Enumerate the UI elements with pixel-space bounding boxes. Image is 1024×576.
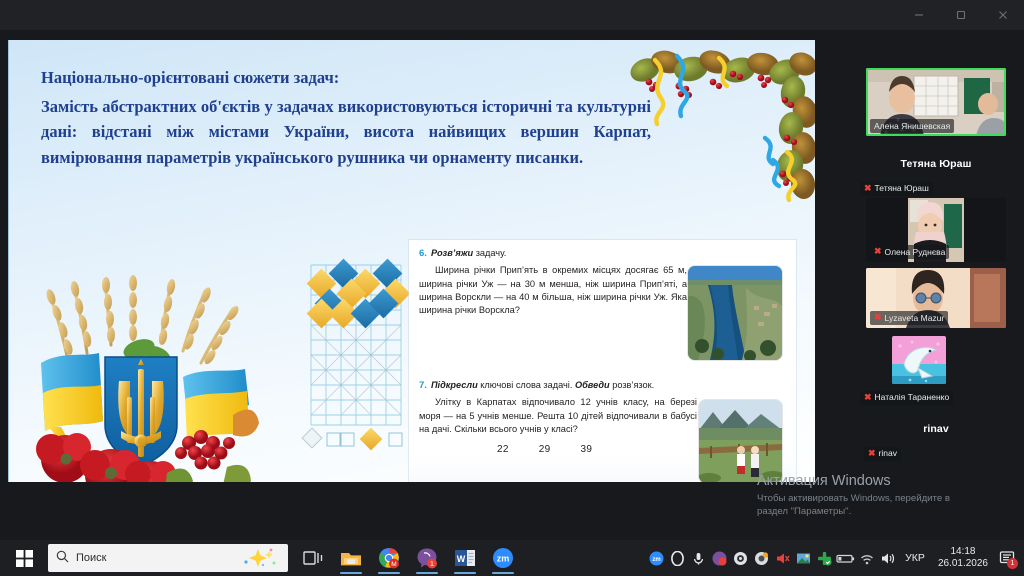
browser-tray-icon[interactable] — [730, 540, 751, 576]
chrome-icon[interactable]: M — [370, 540, 408, 576]
participant-name-badge: ✖ Наталія Тараненко — [860, 391, 953, 405]
participant-name: Алена Янишевская — [874, 121, 950, 131]
river-aerial-photo — [688, 266, 782, 360]
taskbar-pinned-apps[interactable]: M 1 W — [294, 540, 522, 576]
task-7-instruction-rest2: розв’язок. — [612, 380, 654, 390]
ukraine-coat-of-arms-emblem-icon — [21, 245, 271, 482]
task-6: 6. Розв’яжи задачу. Ширина річки Прип’ят… — [409, 248, 687, 317]
task-view-icon[interactable] — [294, 540, 332, 576]
svg-text:1: 1 — [430, 561, 434, 568]
zoom-icon[interactable]: zm — [484, 540, 522, 576]
participant-name: Lyzaveta Mazur — [885, 313, 945, 323]
running-indicator — [340, 572, 362, 575]
muted-microphone-icon: ✖ — [864, 183, 872, 194]
task-7-number: 7. — [419, 380, 427, 392]
participant-tile-tetyana[interactable]: Тетяна Юраш ✖ Тетяна Юраш — [848, 158, 1024, 196]
participant-tile-olena[interactable]: ✖ Олена Руднєва — [866, 198, 1006, 262]
task-6-heading: 6. Розв’яжи задачу. — [419, 248, 687, 260]
notification-icon[interactable]: 1 — [994, 540, 1020, 576]
carpathian-mountains-children-photo — [699, 400, 782, 482]
shield-tray-icon[interactable] — [751, 540, 772, 576]
system-tray[interactable]: zm — [646, 540, 1024, 576]
spotlight-name-tetyana: Тетяна Юраш — [848, 158, 1024, 170]
task-6-body: Ширина річки Прип’ять в окремих місцях д… — [419, 264, 687, 317]
volume-mute-icon[interactable] — [772, 540, 793, 576]
rushnyk-pysanka-grid-icon — [297, 255, 427, 455]
viburnum-ribbon-corner-icon — [615, 42, 815, 202]
task-7-body: Улітку в Карпатах відпочивало 12 учнів к… — [419, 396, 697, 436]
running-indicator — [492, 572, 514, 575]
textbook-task-card: 6. Розв’яжи задачу. Ширина річки Прип’ят… — [409, 240, 796, 482]
opera-tray-icon[interactable] — [667, 540, 688, 576]
running-indicator — [378, 572, 400, 575]
answer-option[interactable]: 39 — [580, 444, 592, 455]
slide-text-block: Національно-орієнтовані сюжети задач: За… — [41, 65, 651, 171]
svg-text:zm: zm — [497, 554, 510, 564]
security-check-icon[interactable] — [814, 540, 835, 576]
muted-microphone-icon: ✖ — [864, 392, 872, 403]
slide-paragraph: Замість абстрактних об'єктів у задачах в… — [41, 94, 651, 171]
viber-tray-icon[interactable] — [709, 540, 730, 576]
speaker-icon[interactable] — [877, 540, 898, 576]
search-placeholder: Поиск — [76, 552, 106, 564]
running-indicator — [454, 572, 476, 575]
task-7: 7. Підкресли ключові слова задачі. Обвед… — [409, 380, 697, 455]
wifi-icon[interactable] — [856, 540, 877, 576]
muted-microphone-icon: ✖ — [874, 312, 882, 323]
search-input[interactable]: Поиск — [48, 544, 288, 572]
svg-text:zm: zm — [652, 557, 660, 563]
participant-tile-rinav[interactable]: rinav ✖ rinav — [848, 423, 1024, 461]
copilot-sparkle-icon[interactable] — [238, 547, 280, 569]
windows-taskbar[interactable]: Поиск — [0, 540, 1024, 576]
participant-name: Тетяна Юраш — [875, 183, 929, 193]
viber-icon[interactable]: 1 — [408, 540, 446, 576]
picture-tray-icon[interactable] — [793, 540, 814, 576]
participant-rail[interactable]: Алена Янишевская Тетяна Юраш ✖ Тетяна Юр… — [848, 30, 1024, 540]
maximize-button[interactable] — [940, 0, 982, 30]
answer-option[interactable]: 22 — [497, 444, 509, 455]
answer-option[interactable]: 29 — [539, 444, 551, 455]
participant-tile-nataliya[interactable]: ✖ Наталія Тараненко — [848, 336, 1024, 405]
participant-name: rinav — [879, 448, 897, 458]
zoom-tray-icon[interactable]: zm — [646, 540, 667, 576]
muted-microphone-icon: ✖ — [868, 448, 876, 459]
battery-icon[interactable] — [835, 540, 856, 576]
desktop: Національно-орієнтовані сюжети задач: За… — [0, 0, 1024, 576]
task-6-instruction-bold: Розв’яжи — [431, 248, 473, 258]
video-feed: ✖ Олена Руднєва — [866, 198, 1006, 262]
shared-screen-stage[interactable]: Національно-орієнтовані сюжети задач: За… — [0, 30, 848, 540]
muted-microphone-icon: ✖ — [874, 246, 882, 257]
start-icon[interactable] — [0, 540, 48, 576]
window-titlebar — [0, 0, 1024, 30]
spotlight-name-rinav: rinav — [848, 423, 1024, 435]
clock-date: 26.01.2026 — [938, 558, 988, 571]
language-indicator[interactable]: УКР — [898, 552, 932, 564]
clock-time: 14:18 — [938, 546, 988, 559]
task-7-answer-options: 22 29 39 — [419, 444, 697, 455]
participant-name-badge: ✖ Lyzaveta Mazur — [870, 311, 948, 325]
task-7-instruction-bold2: Обведи — [575, 380, 610, 390]
task-7-instruction-rest: ключові слова задачі. — [480, 380, 572, 390]
task-6-instruction-rest: задачу. — [476, 248, 507, 258]
video-feed: ✖ Lyzaveta Mazur — [866, 268, 1006, 328]
task-6-number: 6. — [419, 248, 427, 260]
close-button[interactable] — [982, 0, 1024, 30]
running-indicator — [416, 572, 438, 575]
search-icon — [56, 550, 69, 566]
microphone-icon[interactable] — [688, 540, 709, 576]
participant-tile-alena[interactable]: Алена Янишевская — [866, 68, 1006, 136]
notification-count: 1 — [1007, 558, 1018, 569]
task-7-heading: 7. Підкресли ключові слова задачі. Обвед… — [419, 380, 697, 392]
participant-name: Олена Руднєва — [885, 247, 946, 257]
participant-name-badge: ✖ Тетяна Юраш — [860, 182, 933, 196]
svg-text:M: M — [391, 561, 396, 568]
participant-tile-lyzaveta[interactable]: ✖ Lyzaveta Mazur — [866, 268, 1006, 328]
presentation-slide: Національно-орієнтовані сюжети задач: За… — [8, 40, 815, 482]
participant-name: Наталія Тараненко — [875, 392, 950, 402]
clock[interactable]: 14:18 26.01.2026 — [932, 546, 994, 571]
avatar — [892, 336, 946, 384]
task-7-instruction-bold: Підкресли — [431, 380, 478, 390]
participant-name-badge: ✖ rinav — [864, 447, 901, 461]
slide-heading: Національно-орієнтовані сюжети задач: — [41, 65, 651, 91]
participant-name-badge: Алена Янишевская — [870, 119, 954, 133]
word-icon[interactable]: W — [446, 540, 484, 576]
participant-name-badge: ✖ Олена Руднєва — [870, 245, 949, 259]
file-explorer-icon[interactable] — [332, 540, 370, 576]
video-feed: Алена Янишевская — [866, 68, 1006, 136]
minimize-button[interactable] — [898, 0, 940, 30]
svg-text:W: W — [457, 554, 466, 564]
